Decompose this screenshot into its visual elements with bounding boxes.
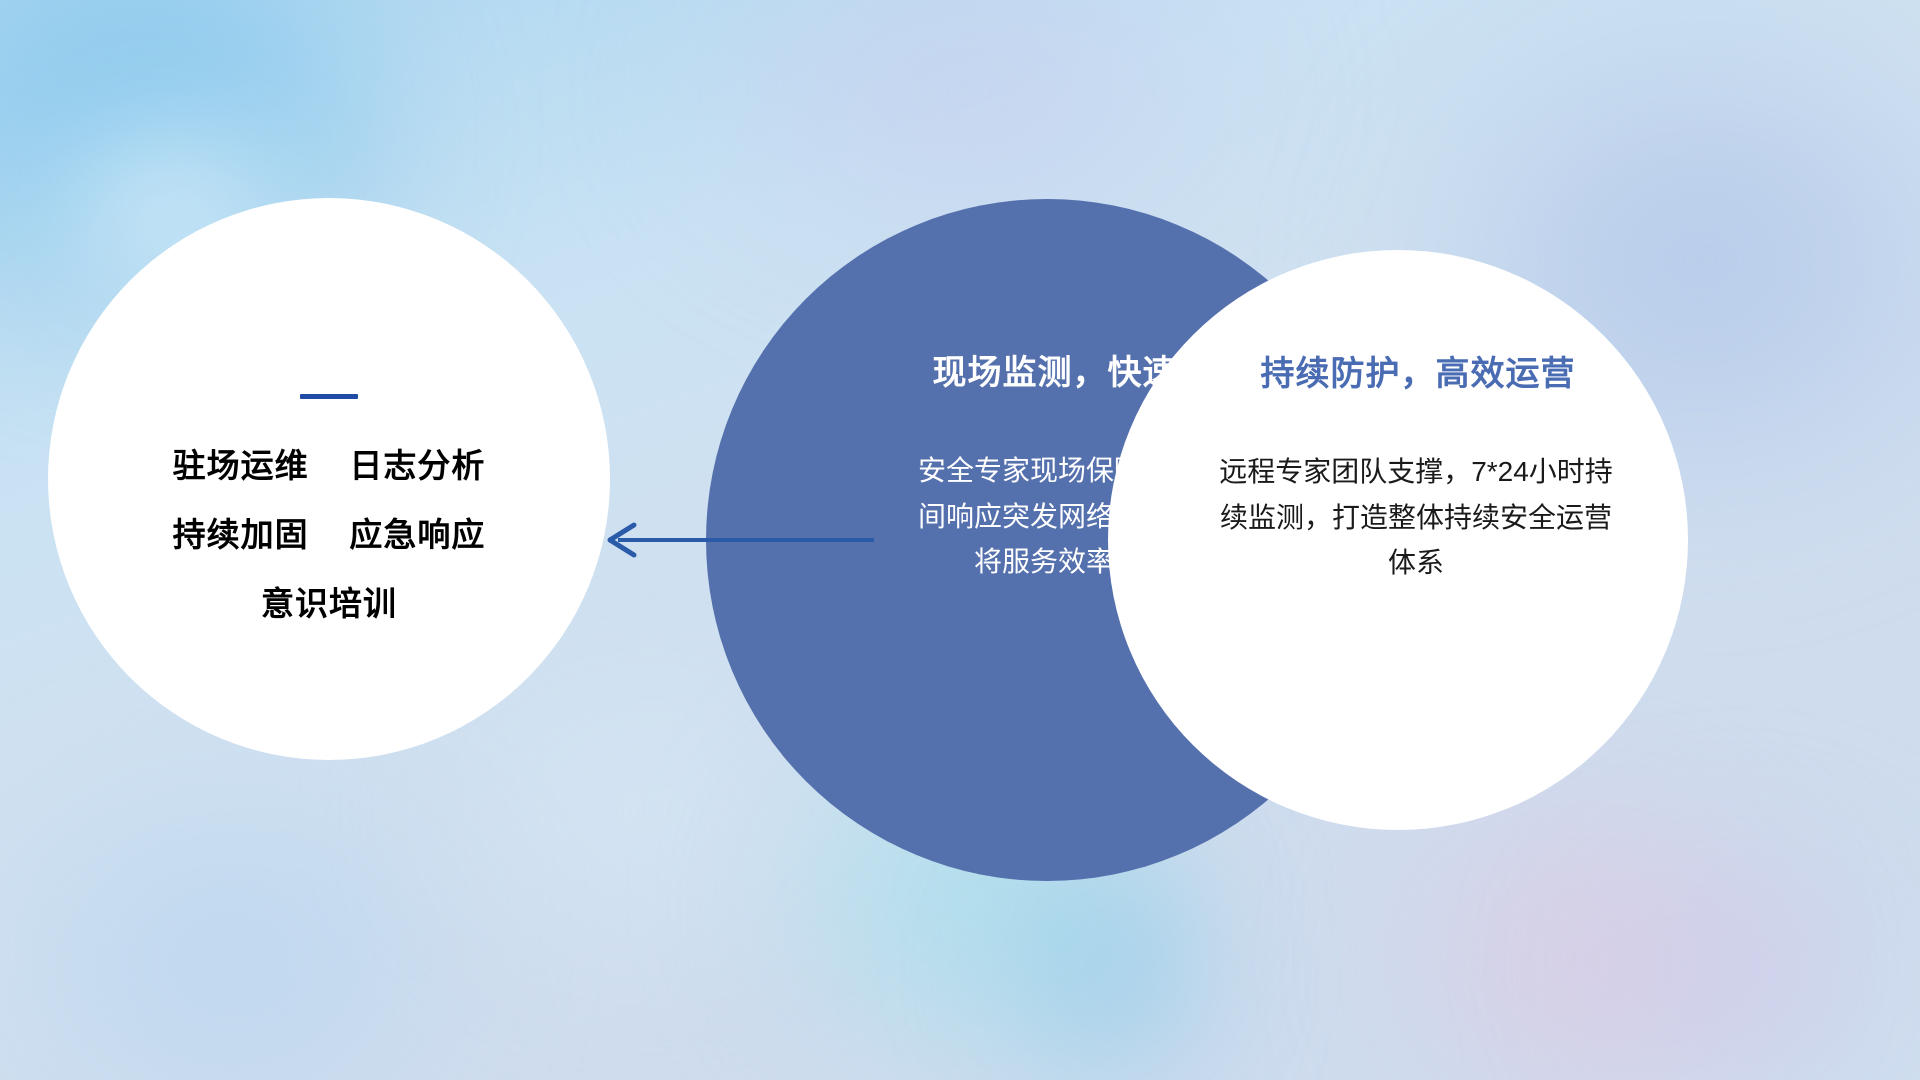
capability-row-2: 持续加固 应急响应 [173, 518, 486, 551]
capability-row-1: 驻场运维 日志分析 [173, 449, 486, 482]
divider-line [300, 394, 358, 399]
slide-canvas: 驻场运维 日志分析 持续加固 应急响应 意识培训 现场监测，快速响应 安全专家现… [0, 0, 1920, 1080]
capabilities-content: 驻场运维 日志分析 持续加固 应急响应 意识培训 [48, 198, 610, 760]
continuous-protection-content: 持续防护，高效运营 远程专家团队支撑，7*24小时持续监测，打造整体持续安全运营… [1108, 250, 1688, 830]
capability-row-3: 意识培训 [261, 587, 397, 620]
continuous-protection-body: 远程专家团队支撑，7*24小时持续监测，打造整体持续安全运营体系 [1209, 449, 1623, 585]
continuous-protection-title: 持续防护，高效运营 [1108, 356, 1688, 393]
